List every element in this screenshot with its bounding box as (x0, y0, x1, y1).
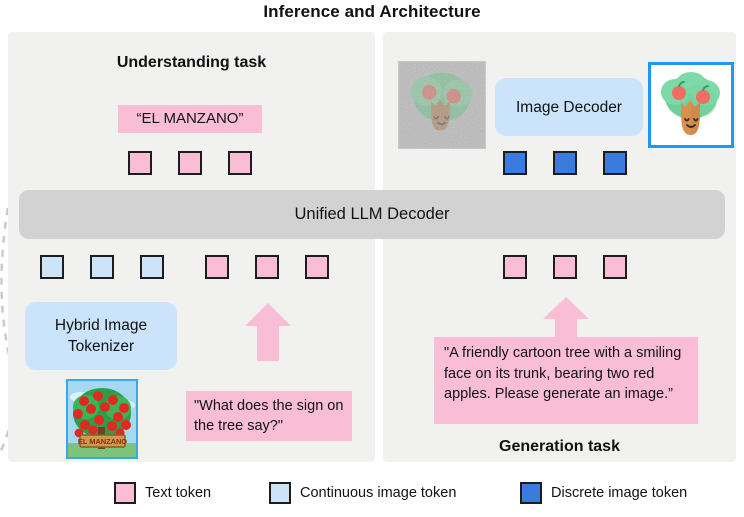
generated-image (648, 62, 734, 148)
input-text-token (553, 255, 577, 279)
output-text-token (128, 151, 152, 175)
image-decoder-box: Image Decoder (495, 78, 643, 136)
figure-canvas: Inference and Architecture Understanding… (0, 0, 744, 517)
input-text-token (205, 255, 229, 279)
legend-label-text-token: Text token (145, 485, 211, 501)
noisy-generated-image (398, 61, 486, 149)
discrete-image-token (503, 151, 527, 175)
continuous-image-token (140, 255, 164, 279)
hybrid-image-tokenizer-label: Hybrid Image Tokenizer (25, 315, 177, 357)
generation-panel-title: Generation task (383, 438, 736, 456)
legend-item-text-token: Text token (114, 482, 211, 504)
answer-text-bubble: “EL MANZANO” (118, 105, 262, 133)
unified-llm-decoder-label: Unified LLM Decoder (295, 205, 450, 224)
input-text-token (603, 255, 627, 279)
legend-item-discrete-image-token: Discrete image token (520, 482, 687, 504)
figure-title: Inference and Architecture (0, 2, 744, 22)
input-text-token (305, 255, 329, 279)
input-photo-image: EL MANZANO (66, 379, 138, 459)
input-text-token (503, 255, 527, 279)
legend-item-continuous-image-token: Continuous image token (269, 482, 456, 504)
input-text-token (255, 255, 279, 279)
continuous-image-token (90, 255, 114, 279)
legend-label-continuous-image-token: Continuous image token (300, 485, 456, 501)
legend-swatch-discrete-image-token (520, 482, 542, 504)
understanding-panel-title: Understanding task (8, 54, 375, 72)
hybrid-image-tokenizer-box: Hybrid Image Tokenizer (25, 302, 177, 370)
discrete-image-token (603, 151, 627, 175)
legend-swatch-continuous-image-token (269, 482, 291, 504)
legend-swatch-text-token (114, 482, 136, 504)
continuous-image-token (40, 255, 64, 279)
legend: Text token Continuous image token Discre… (0, 478, 744, 512)
photo-sign-caption: EL MANZANO (78, 437, 127, 446)
output-text-token (228, 151, 252, 175)
left-text-input-arrow (245, 303, 291, 361)
image-decoder-label: Image Decoder (516, 97, 622, 118)
unified-llm-decoder-bar: Unified LLM Decoder (19, 190, 725, 239)
discrete-image-token (553, 151, 577, 175)
legend-label-discrete-image-token: Discrete image token (551, 485, 687, 501)
output-text-token (178, 151, 202, 175)
user-question-bubble: "What does the sign on the tree say?" (186, 391, 352, 441)
generation-prompt-bubble: "A friendly cartoon tree with a smiling … (434, 337, 698, 424)
